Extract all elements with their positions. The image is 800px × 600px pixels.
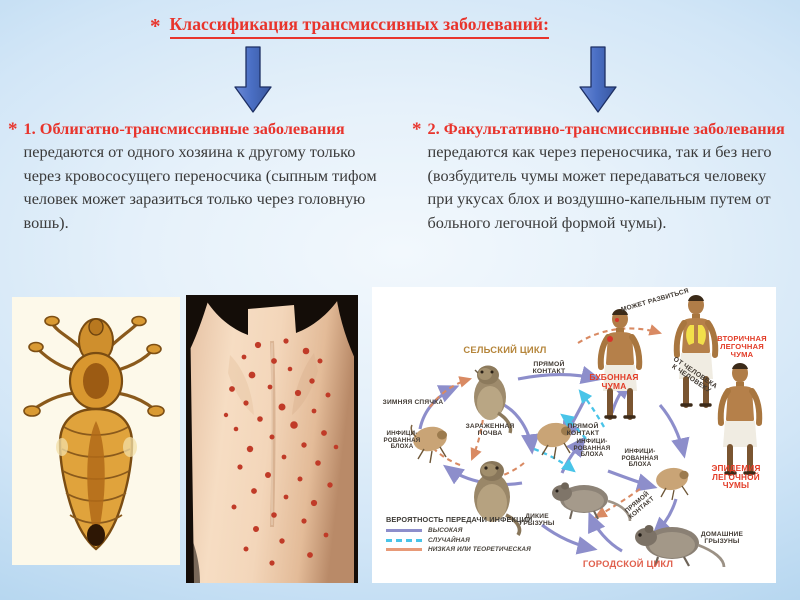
legend-item-low: НИЗКАЯ ИЛИ ТЕОРЕТИЧЕСКАЯ [386,546,586,553]
photo-typhus-rash [186,295,358,583]
facultative-number: 2. [428,119,444,138]
head-louse-illustration [12,297,180,565]
text-block-obligate: * 1. Облигатно-трансмиссивные заболевани… [8,117,400,234]
slide-title-text: Классификация трансмиссивных заболеваний… [170,14,550,39]
obligate-term: Облигатно-трансмиссивные заболевания [40,119,345,138]
slide: * Классификация трансмиссивных заболеван… [0,0,800,600]
legend-swatch-high-icon [386,529,422,532]
legend-swatch-occasional-icon [386,539,422,542]
legend-label-high: ВЫСОКАЯ [428,527,463,534]
legend-item-high: ВЫСОКАЯ [386,527,586,534]
legend-label-low: НИЗКАЯ ИЛИ ТЕОРЕТИЧЕСКАЯ [428,546,531,553]
diagram-legend: ВЕРОЯТНОСТЬ ПЕРЕДАЧИ ИНФЕКЦИИ ВЫСОКАЯ СЛ… [386,515,586,556]
legend-label-occasional: СЛУЧАЙНАЯ [428,537,470,544]
text-block-facultative: * 2. Факультативно-трансмиссивные заболе… [412,117,800,234]
obligate-number: 1. [24,119,40,138]
text-block-facultative-body: 2. Факультативно-трансмиссивные заболева… [428,117,788,234]
plague-transmission-cycle-diagram: СЕЛЬСКИЙ ЦИКЛ ГОРОДСКОЙ ЦИКЛ ЗИМНЯЯ СПЯЧ… [372,287,776,583]
obligate-rest: передаются от одного хозяина к другому т… [24,142,377,231]
down-arrow-icon-right [578,46,618,114]
bullet-star-icon: * [8,120,18,139]
facultative-rest: передаются как через переносчика, так и … [428,142,772,231]
text-block-obligate-body: 1. Облигатно-трансмиссивные заболевания … [24,117,379,234]
legend-title: ВЕРОЯТНОСТЬ ПЕРЕДАЧИ ИНФЕКЦИИ [386,515,586,524]
down-arrow-icon-left [233,46,273,114]
typhus-rash-illustration [186,295,358,583]
facultative-term: Факультативно-трансмиссивные заболевания [444,119,785,138]
photo-head-louse [12,297,180,565]
bullet-star-icon: * [412,120,422,139]
legend-swatch-low-icon [386,548,422,551]
legend-item-occasional: СЛУЧАЙНАЯ [386,537,586,544]
slide-title: * Классификация трансмиссивных заболеван… [150,14,710,39]
bullet-star-icon: * [150,16,161,37]
